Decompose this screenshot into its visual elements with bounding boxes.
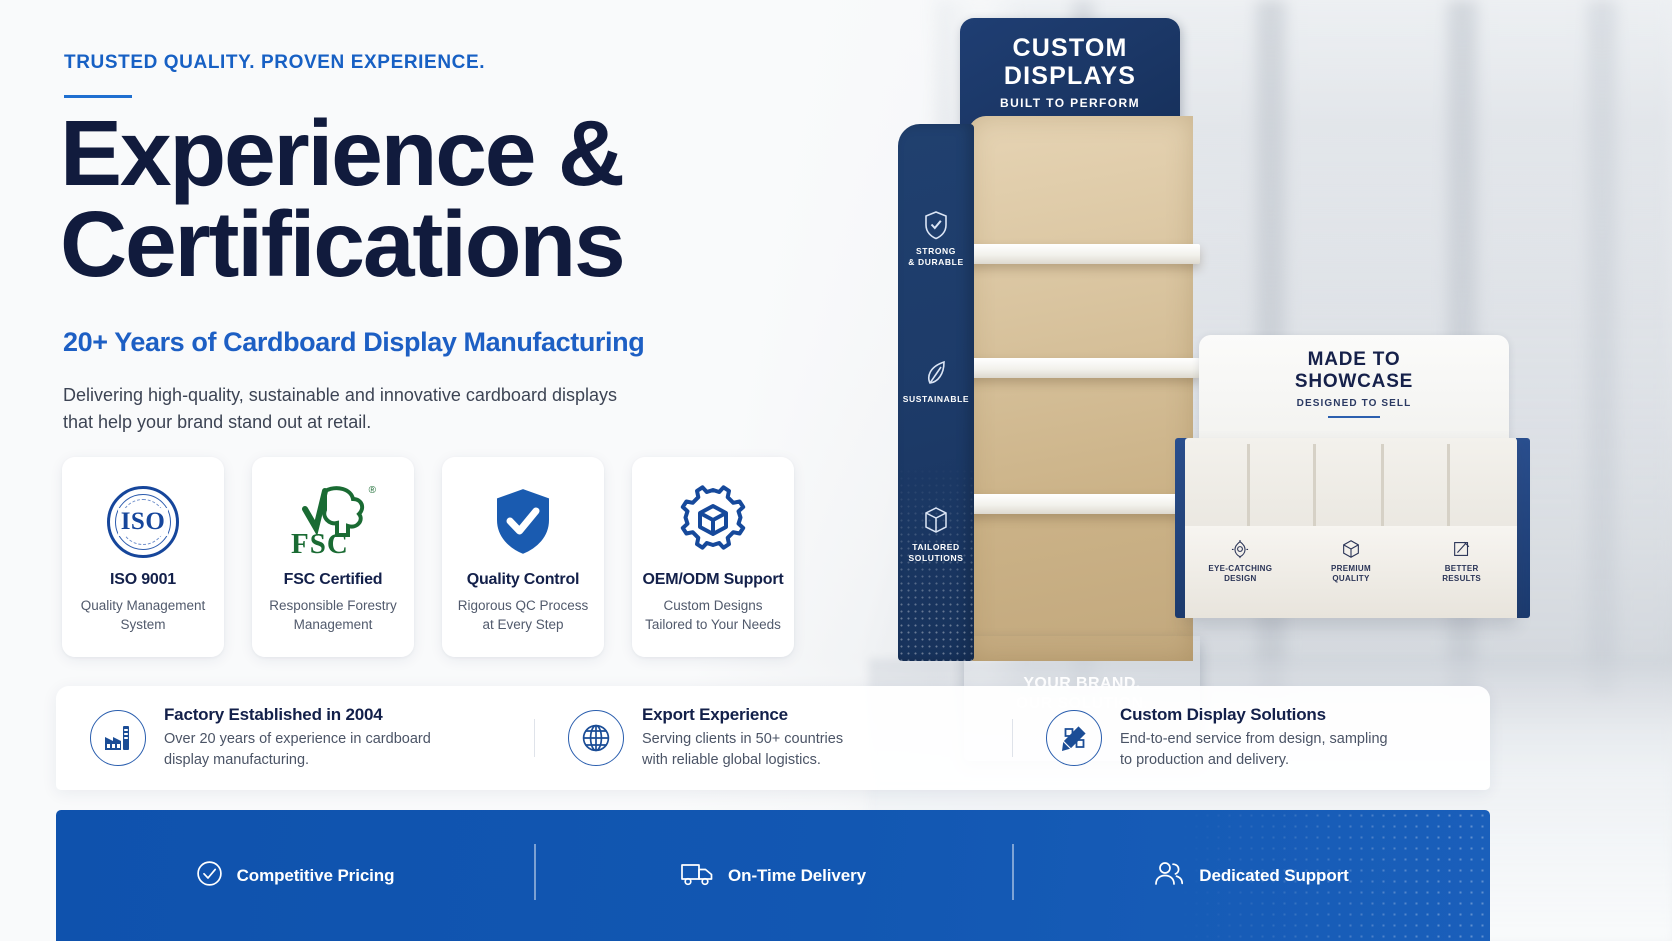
feature-desc: Over 20 years of experience in cardboard… bbox=[164, 729, 431, 770]
registered-mark: ® bbox=[369, 485, 376, 496]
certification-card-fsc[interactable]: ® FSC FSC Certified Responsible Forestry… bbox=[252, 457, 414, 657]
iso-roundel-icon: ISO bbox=[107, 483, 179, 561]
tray-divider-2 bbox=[1313, 444, 1316, 530]
shield-check-icon bbox=[490, 483, 556, 561]
feature-desc: Serving clients in 50+ countries with re… bbox=[642, 729, 843, 770]
footer-item-label: Competitive Pricing bbox=[237, 866, 395, 886]
counter-header-line2: SHOWCASE bbox=[1199, 371, 1509, 393]
certification-desc: Quality Management System bbox=[73, 596, 214, 634]
certification-title: OEM/ODM Support bbox=[643, 571, 784, 589]
counter-badge-1: PREMIUM QUALITY bbox=[1307, 538, 1395, 585]
shield-check-icon bbox=[898, 210, 974, 240]
certification-title: FSC Certified bbox=[284, 571, 383, 589]
feature-item-custom-solutions[interactable]: Custom Display Solutions End-to-end serv… bbox=[1012, 705, 1490, 770]
fsc-logo-text: FSC bbox=[291, 528, 349, 561]
footer-strip: Competitive Pricing On-Time Delivery Ded… bbox=[56, 810, 1490, 941]
cube-icon bbox=[1307, 538, 1395, 560]
counter-header-line1: MADE TO bbox=[1199, 349, 1509, 371]
tray-divider-4 bbox=[1447, 444, 1450, 530]
counter-side-right bbox=[1516, 438, 1530, 618]
halftone-dots bbox=[898, 461, 974, 661]
hero-subheadline: 20+ Years of Cardboard Display Manufactu… bbox=[63, 327, 644, 358]
counter-badge-0: EYE-CATCHING DESIGN bbox=[1196, 538, 1284, 585]
headline-line-2: Certifications bbox=[60, 199, 623, 290]
tray-divider-3 bbox=[1381, 444, 1384, 530]
footer-item-delivery[interactable]: On-Time Delivery bbox=[534, 860, 1012, 892]
counter-header-underline bbox=[1328, 416, 1380, 418]
certification-card-iso[interactable]: ISO ISO 9001 Quality Management System bbox=[62, 457, 224, 657]
certification-title: Quality Control bbox=[467, 571, 580, 589]
footer-item-label: On-Time Delivery bbox=[728, 866, 866, 886]
leaf-icon bbox=[898, 358, 974, 388]
counter-header-sub: DESIGNED TO SELL bbox=[1199, 398, 1509, 409]
counter-display: MADE TO SHOWCASE DESIGNED TO SELL bbox=[1185, 335, 1520, 665]
certification-desc: Rigorous QC Process at Every Step bbox=[450, 596, 597, 634]
counter-tray: EYE-CATCHING DESIGN PREMIUM QUALITY bbox=[1185, 438, 1517, 618]
tall-display-body: STRONG & DURABLE SUSTAINABLE bbox=[898, 116, 1193, 661]
certification-card-quality-control[interactable]: Quality Control Rigorous QC Process at E… bbox=[442, 457, 604, 657]
certification-card-oem-odm[interactable]: OEM/ODM Support Custom Designs Tailored … bbox=[632, 457, 794, 657]
gear-cube-icon bbox=[676, 483, 750, 561]
shelf-backing bbox=[968, 116, 1193, 661]
people-icon bbox=[1153, 860, 1185, 892]
counter-badge-label-1: PREMIUM QUALITY bbox=[1307, 564, 1395, 585]
hero-rule bbox=[64, 95, 132, 98]
eye-gem-icon bbox=[1196, 538, 1284, 560]
feature-desc: End-to-end service from design, sampling… bbox=[1120, 729, 1388, 770]
feature-item-export[interactable]: Export Experience Serving clients in 50+… bbox=[534, 705, 1012, 770]
footer-item-label: Dedicated Support bbox=[1199, 866, 1348, 886]
feature-band: Factory Established in 2004 Over 20 year… bbox=[56, 686, 1490, 790]
counter-badge-label-2: BETTER RESULTS bbox=[1418, 564, 1506, 585]
tall-display-side-panel: STRONG & DURABLE SUSTAINABLE bbox=[898, 124, 974, 661]
certification-desc: Responsible Forestry Management bbox=[261, 596, 405, 634]
counter-badge-2: BETTER RESULTS bbox=[1418, 538, 1506, 585]
hero-eyebrow: TRUSTED QUALITY. PROVEN EXPERIENCE. bbox=[64, 52, 485, 74]
hero-content: TRUSTED QUALITY. PROVEN EXPERIENCE. Expe… bbox=[0, 0, 900, 941]
feature-item-factory[interactable]: Factory Established in 2004 Over 20 year… bbox=[56, 705, 534, 770]
product-display-photo: CUSTOM DISPLAYS BUILT TO PERFORM STRONG … bbox=[880, 0, 1672, 700]
tall-header-line2: DISPLAYS bbox=[960, 62, 1180, 90]
counter-badge-label-0: EYE-CATCHING DESIGN bbox=[1196, 564, 1284, 585]
certification-cards: ISO ISO 9001 Quality Management System ®… bbox=[62, 457, 794, 657]
tall-header-line1: CUSTOM bbox=[960, 34, 1180, 62]
side-badge-1: SUSTAINABLE bbox=[898, 358, 974, 405]
certification-title: ISO 9001 bbox=[110, 571, 176, 589]
counter-display-header: MADE TO SHOWCASE DESIGNED TO SELL bbox=[1199, 335, 1509, 450]
certification-desc: Custom Designs Tailored to Your Needs bbox=[637, 596, 789, 634]
pencil-ruler-icon bbox=[1046, 710, 1102, 766]
check-circle-icon bbox=[196, 860, 223, 892]
footer-item-support[interactable]: Dedicated Support bbox=[1012, 860, 1490, 892]
shelf-3 bbox=[964, 494, 1200, 514]
chart-pen-icon bbox=[1418, 538, 1506, 560]
tray-divider-1 bbox=[1247, 444, 1250, 530]
shelf-2 bbox=[964, 358, 1200, 378]
globe-icon bbox=[568, 710, 624, 766]
side-badge-label-0: STRONG & DURABLE bbox=[898, 246, 974, 268]
iso-logo-text: ISO bbox=[118, 508, 169, 536]
tall-header-sub: BUILT TO PERFORM bbox=[960, 96, 1180, 110]
feature-title: Export Experience bbox=[642, 705, 843, 725]
factory-icon bbox=[90, 710, 146, 766]
footer-item-pricing[interactable]: Competitive Pricing bbox=[56, 860, 534, 892]
feature-title: Custom Display Solutions bbox=[1120, 705, 1388, 725]
fsc-tree-icon: ® FSC bbox=[285, 483, 381, 561]
delivery-truck-icon bbox=[680, 860, 714, 892]
side-badge-label-1: SUSTAINABLE bbox=[898, 394, 974, 405]
counter-front-panel: EYE-CATCHING DESIGN PREMIUM QUALITY bbox=[1185, 526, 1517, 618]
feature-title: Factory Established in 2004 bbox=[164, 705, 431, 725]
page-title: Experience & Certifications bbox=[60, 108, 623, 290]
hero-lede: Delivering high-quality, sustainable and… bbox=[63, 382, 623, 437]
side-badge-0: STRONG & DURABLE bbox=[898, 210, 974, 268]
shelf-1 bbox=[964, 244, 1200, 264]
headline-line-1: Experience & bbox=[60, 108, 623, 199]
tall-floor-display: CUSTOM DISPLAYS BUILT TO PERFORM STRONG … bbox=[890, 18, 1190, 658]
